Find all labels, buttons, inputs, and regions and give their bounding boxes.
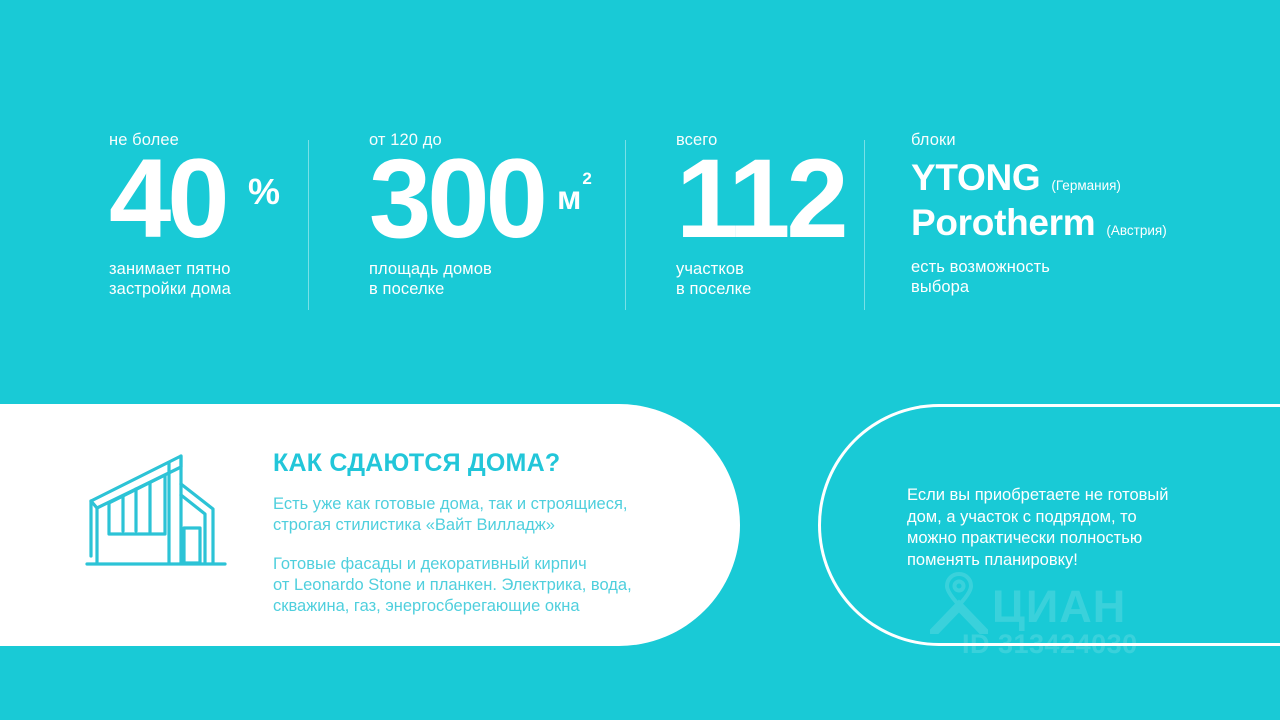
paragraph-line: от Leonardo Stone и планкен. Электрика, … [273,575,673,596]
stat-bottom-label: есть возможность выбора [911,257,1050,297]
stat-bottom-line-1: есть возможность [911,257,1050,277]
stats-strip: document.querySelector('[data-name="stat… [0,131,1280,311]
stat-bottom-line-2: застройки дома [109,279,231,299]
stat-unit-base: м [557,179,581,216]
stat-value: 112 [676,143,845,255]
paragraph-line: поменять планировку! [907,550,1217,572]
stat-block-plots-count: всего 112 участков в поселке [676,131,856,311]
stat-block-blocks-brands: блоки YTONG (Германия) Porotherm (Австри… [911,131,1251,311]
stat-bottom-label: участков в поселке [676,259,751,299]
card-paragraph-1: Есть уже как готовые дома, так и строящи… [273,494,673,536]
brand-name: Porotherm [911,202,1095,243]
stat-unit-square-meters: м2 [557,175,592,214]
stat-value-group: 300 м2 [369,152,619,252]
brand-country: (Германия) [1051,178,1121,194]
house-icon [85,446,235,576]
stat-bottom-line-1: участков [676,259,751,279]
brand-country: (Австрия) [1106,223,1166,239]
stat-value-group: 112 [676,152,856,252]
paragraph-line: Готовые фасады и декоративный кирпич [273,554,673,575]
paragraph-line: скважина, газ, энергосберегающие окна [273,596,673,617]
card-title: КАК СДАЮТСЯ ДОМА? [273,448,673,478]
paragraph-line: Если вы приобретаете не готовый [907,485,1217,507]
stat-value-group: 40 % [109,152,309,252]
stat-bottom-line-1: занимает пятно [109,259,231,279]
stat-value: 40 [109,143,226,255]
stat-bottom-label: занимает пятно застройки дома [109,259,231,299]
card-handover-text: КАК СДАЮТСЯ ДОМА? Есть уже как готовые д… [273,448,673,617]
stat-value: 300 [369,143,544,255]
card-layout-change-text: Если вы приобретаете не готовый дом, а у… [907,485,1217,571]
stat-block-build-spot: не более 40 % занимает пятно застройки д… [109,131,309,311]
stat-unit-percent: % [248,174,280,210]
paragraph-line: Есть уже как готовые дома, так и строящи… [273,494,673,515]
card-handover-info: КАК СДАЮТСЯ ДОМА? Есть уже как готовые д… [0,404,740,646]
stat-unit-exponent: 2 [582,169,591,188]
brand-row-porotherm: Porotherm (Австрия) [911,202,1167,243]
paragraph-line: дом, а участок с подрядом, то [907,507,1217,529]
brand-name: YTONG [911,157,1040,198]
brand-list: YTONG (Германия) Porotherm (Австрия) [911,157,1167,243]
stat-bottom-line-2: в поселке [369,279,492,299]
stat-bottom-line-2: в поселке [676,279,751,299]
stat-top-label: блоки [911,131,1251,150]
stat-bottom-label: площадь домов в поселке [369,259,492,299]
card-paragraph-2: Готовые фасады и декоративный кирпич от … [273,554,673,617]
stat-divider-2 [625,140,626,310]
stat-block-house-area: от 120 до 300 м2 площадь домов в поселке [369,131,619,311]
slide-canvas: document.querySelector('[data-name="stat… [0,0,1280,720]
stat-divider-3 [864,140,865,310]
stat-bottom-line-1: площадь домов [369,259,492,279]
paragraph-line: можно практически полностью [907,528,1217,550]
card-layout-change-info: Если вы приобретаете не готовый дом, а у… [818,404,1280,646]
paragraph-line: строгая стилистика «Вайт Вилладж» [273,515,673,536]
brand-row-ytong: YTONG (Германия) [911,157,1167,198]
stat-bottom-line-2: выбора [911,277,1050,297]
